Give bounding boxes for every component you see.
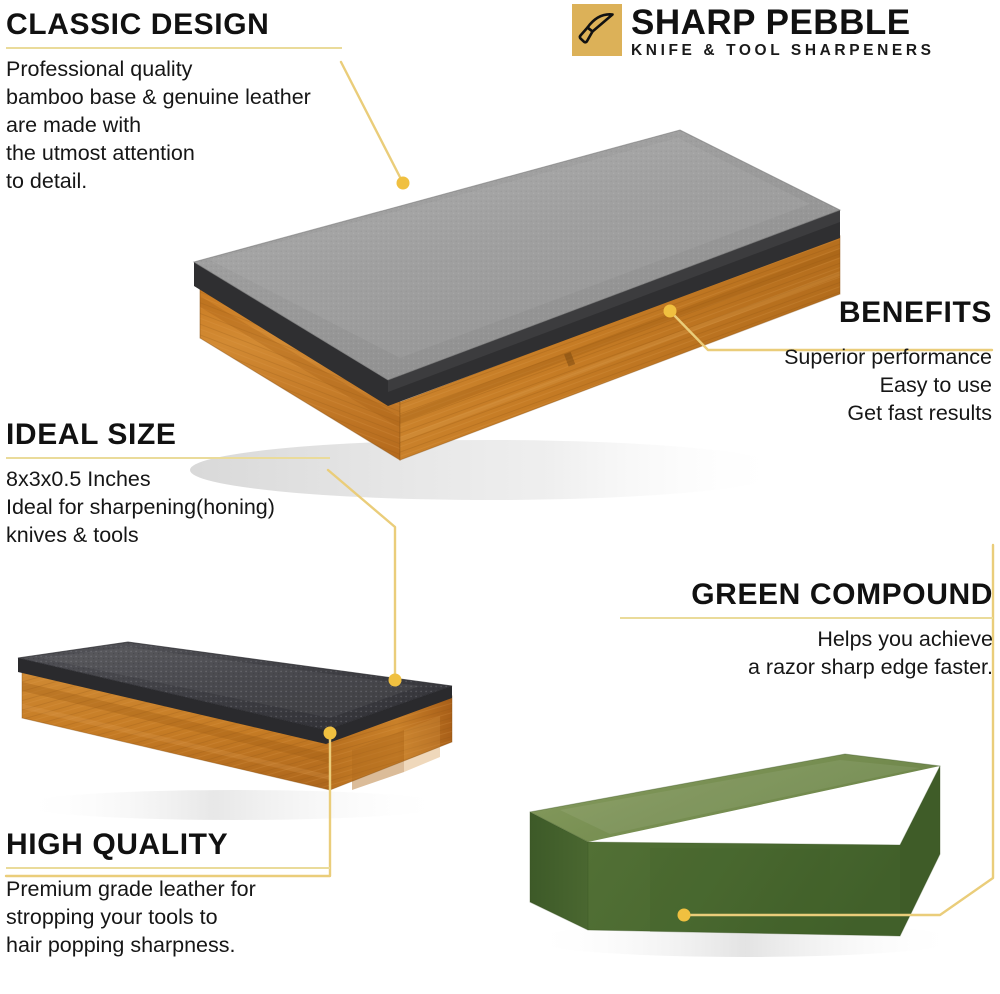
callout-ideal-size: IDEAL SIZE 8x3x0.5 Inches Ideal for shar… [6, 418, 330, 549]
callout-high-quality: HIGH QUALITY Premium grade leather for s… [6, 828, 330, 959]
callout-body-classic-design: Professional quality bamboo base & genui… [6, 55, 342, 195]
callout-rule-ideal-size [6, 457, 330, 459]
callout-title-ideal-size: IDEAL SIZE [6, 418, 330, 452]
infographic-canvas: SHARP PEBBLE KNIFE & TOOL SHARPENERS [0, 0, 1000, 994]
chef-knife-icon [572, 4, 622, 56]
green-polishing-compound [500, 750, 960, 960]
callout-body-green-compound: Helps you achieve a razor sharp edge fas… [620, 625, 993, 681]
callout-green-compound: GREEN COMPOUND Helps you achieve a razor… [620, 578, 993, 681]
callout-title-classic-design: CLASSIC DESIGN [6, 8, 342, 42]
callout-rule-green-compound [620, 617, 993, 619]
brand-logo: SHARP PEBBLE KNIFE & TOOL SHARPENERS [572, 4, 1000, 60]
brand-name: SHARP PEBBLE [631, 3, 911, 42]
brand-tagline: KNIFE & TOOL SHARPENERS [631, 42, 935, 59]
callout-benefits: BENEFITS Superior performance Easy to us… [700, 296, 992, 427]
callout-body-ideal-size: 8x3x0.5 Inches Ideal for sharpening(honi… [6, 465, 330, 549]
leather-strop-secondary [0, 630, 470, 820]
callout-title-benefits: BENEFITS [700, 296, 992, 330]
callout-body-high-quality: Premium grade leather for stropping your… [6, 875, 330, 959]
brand-wordmark: SHARP PEBBLE KNIFE & TOOL SHARPENERS [631, 4, 1000, 60]
callout-classic-design: CLASSIC DESIGN Professional quality bamb… [6, 8, 342, 195]
callout-rule-high-quality [6, 867, 330, 869]
callout-body-benefits: Superior performance Easy to use Get fas… [700, 343, 992, 427]
callout-rule-classic-design [6, 47, 342, 49]
callout-title-high-quality: HIGH QUALITY [6, 828, 330, 862]
callout-title-green-compound: GREEN COMPOUND [620, 578, 993, 612]
